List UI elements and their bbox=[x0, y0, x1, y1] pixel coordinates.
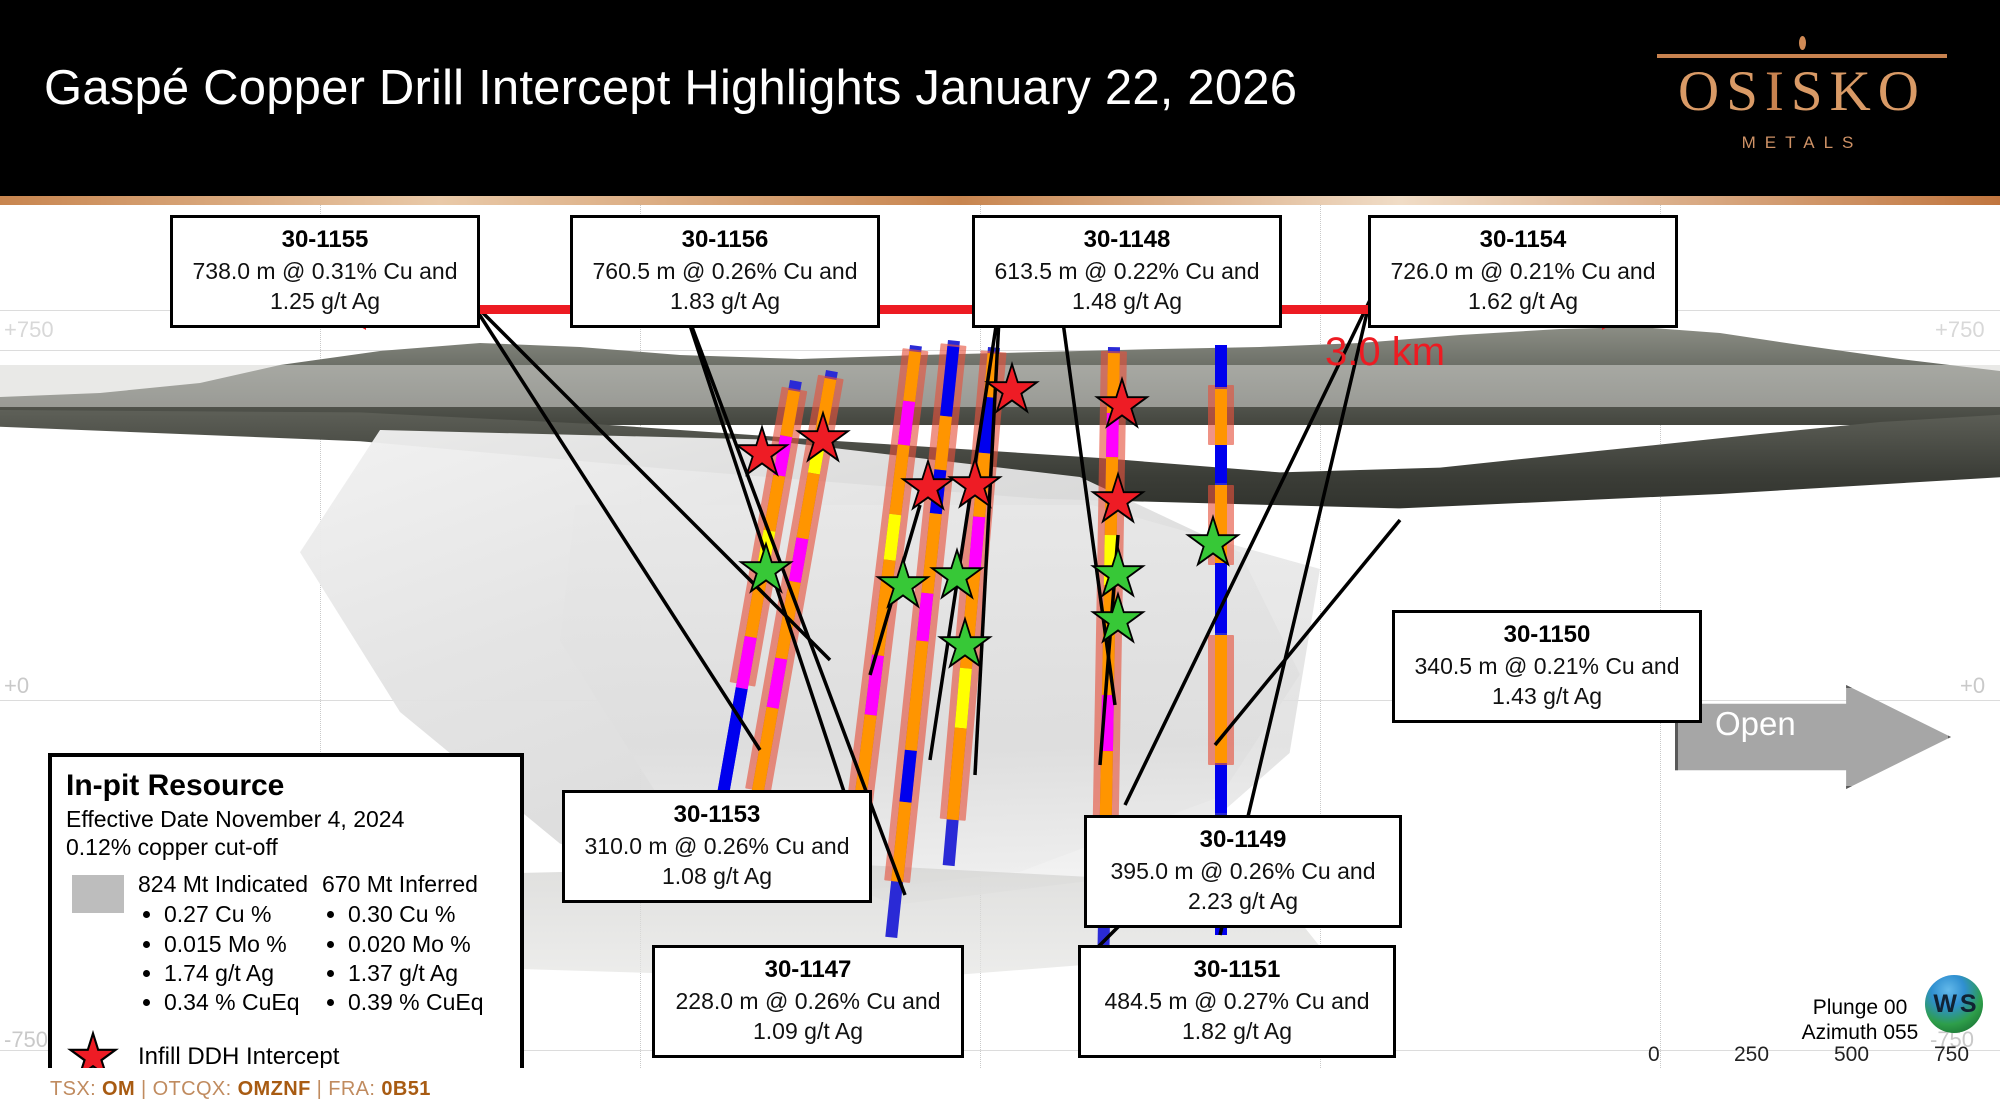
indicated-item: 0.015 Mo % bbox=[164, 930, 322, 959]
callout-line-1: 726.0 m @ 0.21% Cu and bbox=[1383, 257, 1663, 286]
callout-line-1: 738.0 m @ 0.31% Cu and bbox=[185, 257, 465, 286]
inferred-item: 0.30 Cu % bbox=[348, 900, 506, 929]
infill-star-icon bbox=[66, 1030, 120, 1068]
ticker-footer: TSX: OM | OTCQX: OMZNF | FRA: 0B51 bbox=[50, 1078, 431, 1101]
callout-hole-id: 30-1147 bbox=[667, 955, 949, 985]
scale-tick: 750 bbox=[1934, 1043, 1969, 1067]
callout-hole-id: 30-1148 bbox=[987, 225, 1267, 255]
callout-line-1: 228.0 m @ 0.26% Cu and bbox=[667, 987, 949, 1016]
callout-line-2: 1.25 g/t Ag bbox=[185, 287, 465, 316]
callout-hole-id: 30-1151 bbox=[1093, 955, 1381, 985]
callout-hole-id: 30-1156 bbox=[585, 225, 865, 255]
fra-value: 0B51 bbox=[381, 1078, 430, 1100]
osisko-metals-logo: OSISKO METALS bbox=[1652, 30, 1952, 170]
indicated-item: 0.27 Cu % bbox=[164, 900, 322, 929]
callout-line-2: 1.43 g/t Ag bbox=[1407, 682, 1687, 711]
callout-line-1: 613.5 m @ 0.22% Cu and bbox=[987, 257, 1267, 286]
callout-30-1155[interactable]: 30-1155 738.0 m @ 0.31% Cu and 1.25 g/t … bbox=[170, 215, 480, 328]
callout-30-1150[interactable]: 30-1150 340.5 m @ 0.21% Cu and 1.43 g/t … bbox=[1392, 610, 1702, 723]
indicated-item: 0.34 % CuEq bbox=[164, 988, 322, 1017]
otc-label: OTCQX: bbox=[153, 1078, 238, 1100]
legend-cutoff: 0.12% copper cut-off bbox=[66, 833, 506, 861]
legend-title: In-pit Resource bbox=[66, 769, 506, 803]
logo-subtitle: METALS bbox=[1652, 133, 1952, 153]
distance-label: 3.0 km bbox=[1325, 330, 1445, 375]
compass-icon: W S bbox=[1925, 975, 1983, 1033]
inferred-column: 670 Mt Inferred 0.30 Cu % 0.020 Mo % 1.3… bbox=[322, 871, 506, 1018]
inferred-item: 1.37 g/t Ag bbox=[348, 959, 506, 988]
legend-infill-label: Infill DDH Intercept bbox=[138, 1043, 339, 1068]
fra-label: FRA: bbox=[328, 1078, 381, 1100]
logo-rule bbox=[1657, 54, 1947, 58]
callout-line-2: 2.23 g/t Ag bbox=[1099, 887, 1387, 916]
page-header: Gaspé Copper Drill Intercept Highlights … bbox=[0, 0, 2000, 196]
header-divider bbox=[0, 196, 2000, 205]
callout-30-1154[interactable]: 30-1154 726.0 m @ 0.21% Cu and 1.62 g/t … bbox=[1368, 215, 1678, 328]
plunge-label: Plunge 00 bbox=[1790, 995, 1930, 1020]
inferred-item: 0.020 Mo % bbox=[348, 930, 506, 959]
tsx-value: OM bbox=[102, 1078, 135, 1100]
indicated-column: 824 Mt Indicated 0.27 Cu % 0.015 Mo % 1.… bbox=[138, 871, 322, 1018]
callout-line-2: 1.62 g/t Ag bbox=[1383, 287, 1663, 316]
callout-line-2: 1.83 g/t Ag bbox=[585, 287, 865, 316]
inferred-item: 0.39 % CuEq bbox=[348, 988, 506, 1017]
scale-tick-labels: 0 250 500 750 bbox=[1648, 1043, 1968, 1068]
tsx-label: TSX: bbox=[50, 1078, 102, 1100]
callout-line-1: 340.5 m @ 0.21% Cu and bbox=[1407, 652, 1687, 681]
inferred-heading: 670 Mt Inferred bbox=[322, 871, 506, 898]
callout-30-1148[interactable]: 30-1148 613.5 m @ 0.22% Cu and 1.48 g/t … bbox=[972, 215, 1282, 328]
callout-30-1149[interactable]: 30-1149 395.0 m @ 0.26% Cu and 2.23 g/t … bbox=[1084, 815, 1402, 928]
sep: | bbox=[311, 1078, 329, 1100]
callout-hole-id: 30-1149 bbox=[1099, 825, 1387, 855]
callout-hole-id: 30-1155 bbox=[185, 225, 465, 255]
resource-table: 824 Mt Indicated 0.27 Cu % 0.015 Mo % 1.… bbox=[66, 871, 506, 1018]
callout-line-1: 310.0 m @ 0.26% Cu and bbox=[577, 832, 857, 861]
callout-30-1156[interactable]: 30-1156 760.5 m @ 0.26% Cu and 1.83 g/t … bbox=[570, 215, 880, 328]
callout-hole-id: 30-1153 bbox=[577, 800, 857, 830]
indicated-item: 1.74 g/t Ag bbox=[164, 959, 322, 988]
scale-tick: 250 bbox=[1734, 1043, 1769, 1067]
callout-line-2: 1.48 g/t Ag bbox=[987, 287, 1267, 316]
callout-hole-id: 30-1150 bbox=[1407, 620, 1687, 650]
logo-dot-icon bbox=[1799, 36, 1806, 50]
sep: | bbox=[135, 1078, 153, 1100]
orientation-note: Plunge 00 Azimuth 055 bbox=[1790, 995, 1930, 1045]
callout-30-1151[interactable]: 30-1151 484.5 m @ 0.27% Cu and 1.82 g/t … bbox=[1078, 945, 1396, 1058]
scale-tick: 0 bbox=[1648, 1043, 1660, 1067]
callout-line-2: 1.82 g/t Ag bbox=[1093, 1017, 1381, 1046]
indicated-heading: 824 Mt Indicated bbox=[138, 871, 322, 898]
scale-tick: 500 bbox=[1834, 1043, 1869, 1067]
callout-hole-id: 30-1154 bbox=[1383, 225, 1663, 255]
callout-30-1153[interactable]: 30-1153 310.0 m @ 0.26% Cu and 1.08 g/t … bbox=[562, 790, 872, 903]
callout-line-1: 760.5 m @ 0.26% Cu and bbox=[585, 257, 865, 286]
logo-wordmark: OSISKO bbox=[1652, 64, 1952, 120]
open-direction-label: Open bbox=[1715, 705, 1796, 743]
otc-value: OMZNF bbox=[238, 1078, 311, 1100]
callout-30-1147[interactable]: 30-1147 228.0 m @ 0.26% Cu and 1.09 g/t … bbox=[652, 945, 964, 1058]
callout-line-1: 395.0 m @ 0.26% Cu and bbox=[1099, 857, 1387, 886]
azimuth-label: Azimuth 055 bbox=[1790, 1020, 1930, 1045]
callout-line-2: 1.09 g/t Ag bbox=[667, 1017, 949, 1046]
cross-section-figure: +750 +0 -750 +750 +0 -750 bbox=[0, 205, 2000, 1068]
legend-effective-date: Effective Date November 4, 2024 bbox=[66, 805, 506, 833]
callout-line-1: 484.5 m @ 0.27% Cu and bbox=[1093, 987, 1381, 1016]
resource-swatch bbox=[72, 875, 124, 913]
legend-infill-row: Infill DDH Intercept bbox=[66, 1030, 506, 1068]
callout-line-2: 1.08 g/t Ag bbox=[577, 862, 857, 891]
legend-panel: In-pit Resource Effective Date November … bbox=[48, 753, 524, 1068]
page-title: Gaspé Copper Drill Intercept Highlights … bbox=[44, 60, 1297, 116]
